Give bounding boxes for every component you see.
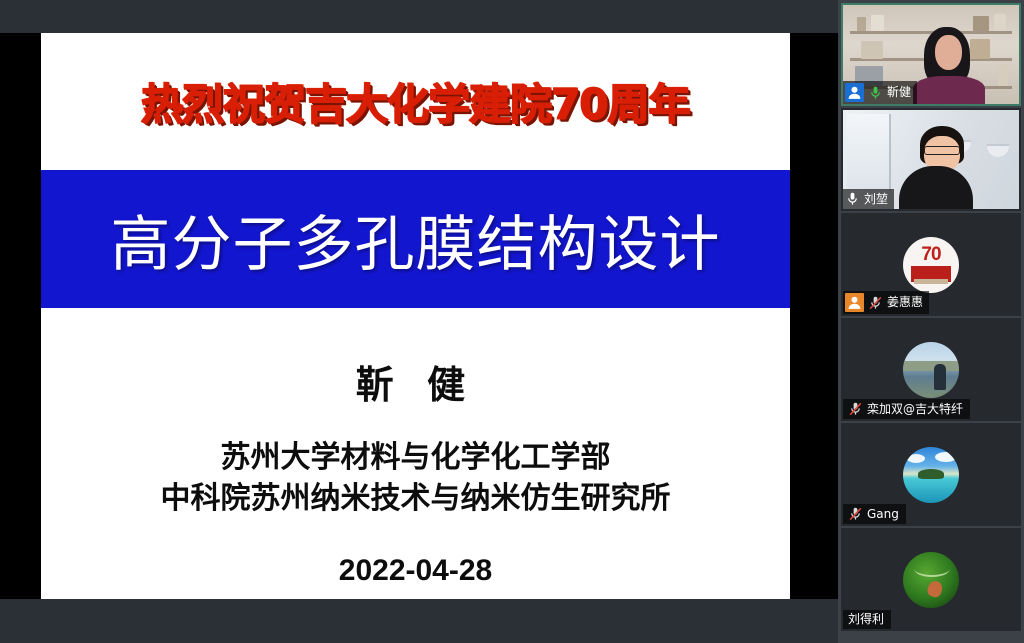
participant-name: 刘堃 — [864, 192, 888, 207]
presentation-slide: 热烈祝贺吉大化学建院70周年 高分子多孔膜结构设计 靳 健 苏州大学材料与化学化… — [41, 33, 790, 599]
slide-affiliation-line-1: 苏州大学材料与化学化工学部 — [161, 437, 671, 478]
participant-name: Gang — [867, 507, 899, 522]
slide-title: 高分子多孔膜结构设计 — [111, 196, 721, 283]
shared-screen-stage[interactable]: 热烈祝贺吉大化学建院70周年 高分子多孔膜结构设计 靳 健 苏州大学材料与化学化… — [0, 0, 838, 643]
participant-nameplate: Gang — [843, 504, 906, 524]
participant-name: 栾加双@吉大特纤 — [867, 402, 963, 417]
participant-name: 靳健 — [887, 85, 911, 100]
microphone-muted-icon — [868, 295, 883, 311]
slide-affiliation-line-2: 中科院苏州纳米技术与纳米仿生研究所 — [161, 478, 671, 519]
microphone-muted-icon — [848, 401, 863, 417]
slide-title-band: 高分子多孔膜结构设计 — [41, 170, 790, 308]
person-icon — [845, 83, 864, 102]
participant-nameplate: 靳健 — [843, 81, 917, 104]
avatar — [903, 447, 959, 503]
participant-tile[interactable]: 刘堃 — [841, 108, 1021, 211]
participant-tile[interactable]: 70 — [841, 213, 1021, 316]
slide-banner: 热烈祝贺吉大化学建院70周年 — [41, 33, 790, 170]
microphone-muted-icon — [848, 506, 863, 522]
participant-nameplate: 栾加双@吉大特纤 — [843, 399, 970, 419]
slide-banner-text: 热烈祝贺吉大化学建院70周年 — [141, 71, 689, 132]
participant-name: 姜惠惠 — [887, 295, 923, 310]
participant-tile[interactable]: 栾加双@吉大特纤 — [841, 318, 1021, 421]
slide-affiliations: 苏州大学材料与化学化工学部 中科院苏州纳米技术与纳米仿生研究所 — [161, 437, 671, 520]
participant-name: 刘得利 — [848, 612, 884, 627]
participant-tile[interactable]: Gang — [841, 423, 1021, 526]
participant-nameplate: 姜惠惠 — [843, 291, 929, 314]
slide-body: 靳 健 苏州大学材料与化学化工学部 中科院苏州纳米技术与纳米仿生研究所 2022… — [41, 308, 790, 599]
person-icon — [845, 293, 864, 312]
avatar — [903, 342, 959, 398]
microphone-icon — [845, 191, 860, 207]
slide-speaker-name: 靳 健 — [356, 354, 475, 409]
avatar: 70 — [903, 237, 959, 293]
microphone-icon — [868, 85, 883, 101]
meeting-window: 热烈祝贺吉大化学建院70周年 高分子多孔膜结构设计 靳 健 苏州大学材料与化学化… — [0, 0, 1024, 643]
participant-filmstrip[interactable]: 靳健 刘堃 — [838, 0, 1024, 643]
participant-tile[interactable]: 靳健 — [841, 3, 1021, 106]
avatar — [903, 552, 959, 608]
participant-tile[interactable]: 刘得利 — [841, 528, 1021, 631]
participant-nameplate: 刘堃 — [843, 189, 894, 209]
participant-nameplate: 刘得利 — [843, 610, 891, 629]
slide-date: 2022-04-28 — [339, 554, 492, 588]
